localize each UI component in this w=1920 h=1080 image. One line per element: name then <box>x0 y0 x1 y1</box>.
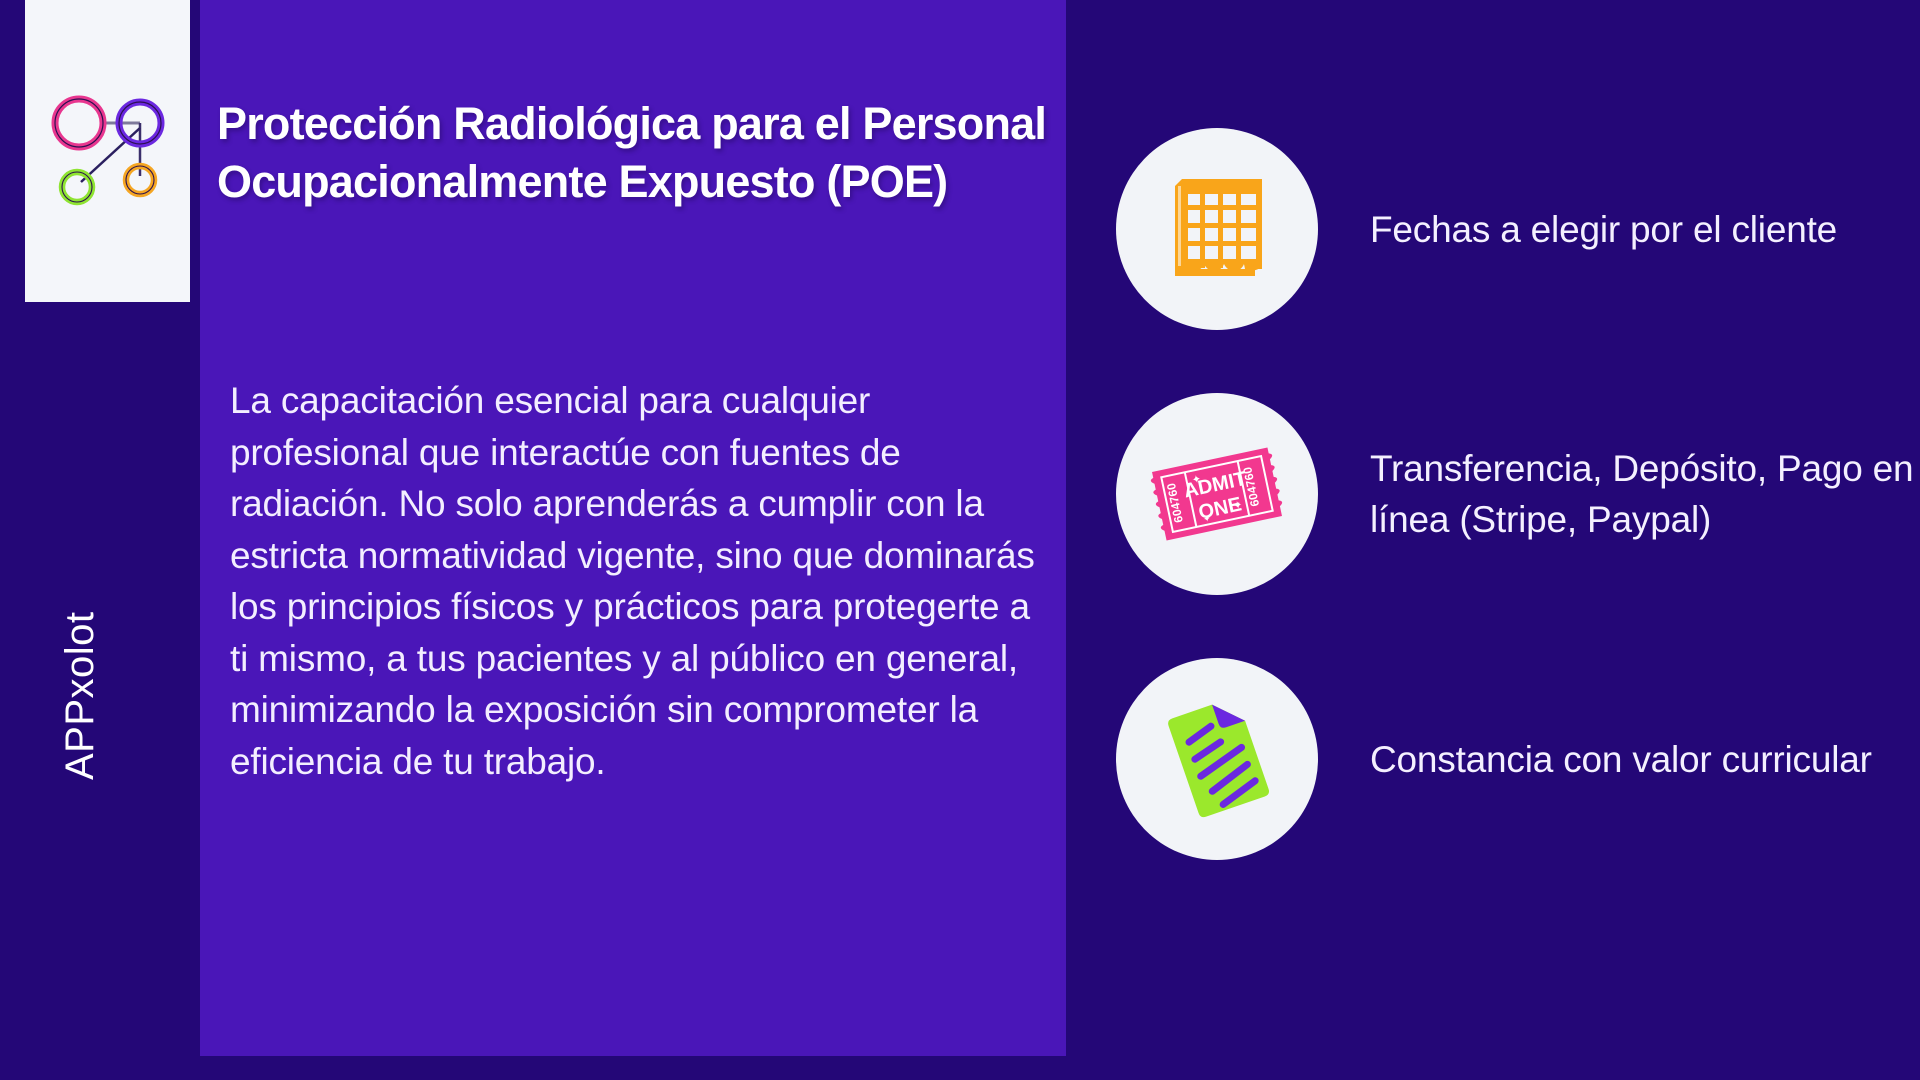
brand-name-vertical: APPxolot <box>50 440 110 780</box>
page-title: Protección Radiológica para el Personal … <box>217 95 1057 211</box>
document-icon <box>1152 694 1282 824</box>
feature-label-certificate: Constancia con valor curricular <box>1370 734 1916 785</box>
feature-label-payment: Transferencia, Depósito, Pago en línea (… <box>1370 443 1916 545</box>
feature-item-payment: ADMIT ONE 604760 604760 ✦ ✦ ✦ Transferen <box>1116 393 1916 595</box>
course-description: La capacitación esencial para cualquier … <box>230 375 1045 787</box>
feature-badge-3 <box>1116 658 1318 860</box>
feature-badge-2: ADMIT ONE 604760 604760 ✦ ✦ ✦ <box>1116 393 1318 595</box>
feature-badge-1 <box>1116 128 1318 330</box>
feature-list: Fechas a elegir por el cliente <box>1066 0 1920 1080</box>
slide-root: APPxolot Protección Radiológica para el … <box>0 0 1920 1080</box>
feature-item-certificate: Constancia con valor curricular <box>1116 658 1916 860</box>
feature-label-dates: Fechas a elegir por el cliente <box>1370 204 1916 255</box>
feature-item-dates: Fechas a elegir por el cliente <box>1116 128 1916 330</box>
calendar-icon <box>1158 170 1276 288</box>
left-rail: APPxolot <box>0 0 200 1080</box>
ticket-icon: ADMIT ONE 604760 604760 ✦ ✦ ✦ <box>1142 439 1292 549</box>
network-nodes-icon <box>48 92 168 210</box>
course-info-panel: Protección Radiológica para el Personal … <box>200 0 1066 1056</box>
logo-card <box>25 0 190 302</box>
